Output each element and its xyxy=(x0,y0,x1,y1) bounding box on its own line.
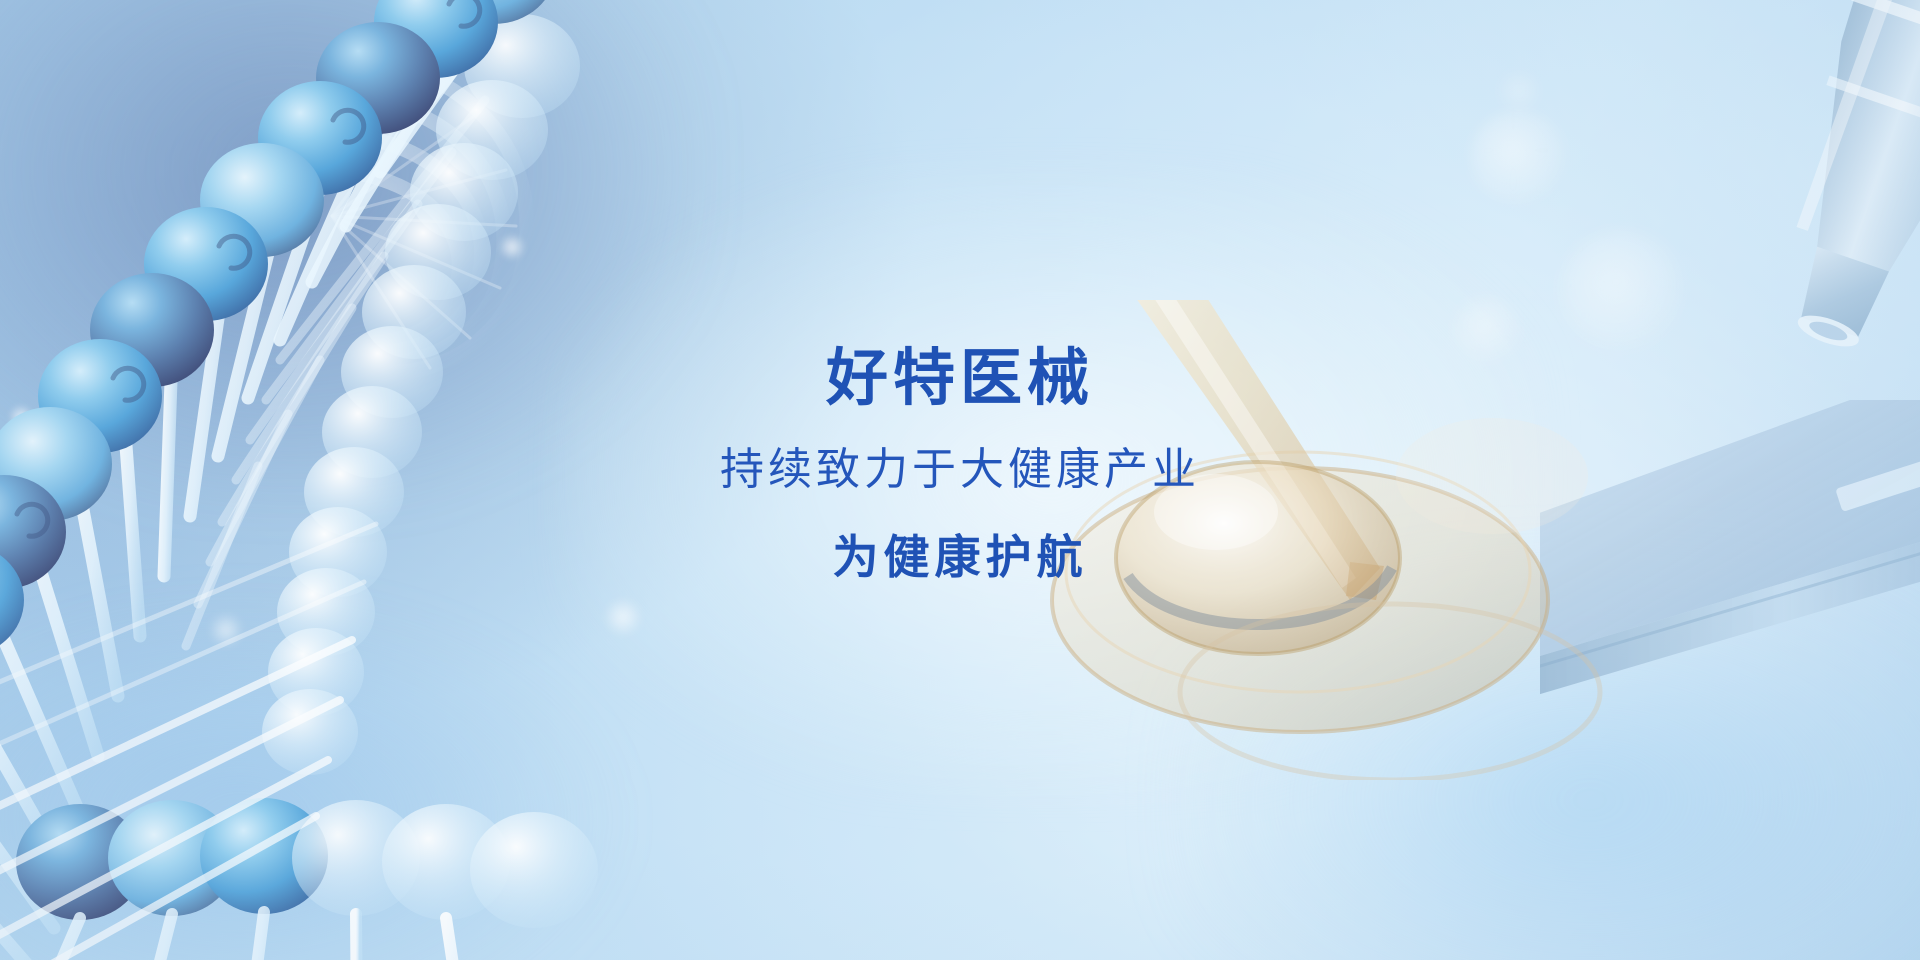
hero-tagline: 为健康护航 xyxy=(833,534,1088,580)
hero-banner: 40 xyxy=(0,0,1920,960)
hero-subtitle: 持续致力于大健康产业 xyxy=(720,448,1200,492)
hero-text-block: 好特医械 持续致力于大健康产业 为健康护航 xyxy=(0,0,1920,960)
page-title: 好特医械 xyxy=(826,348,1094,410)
